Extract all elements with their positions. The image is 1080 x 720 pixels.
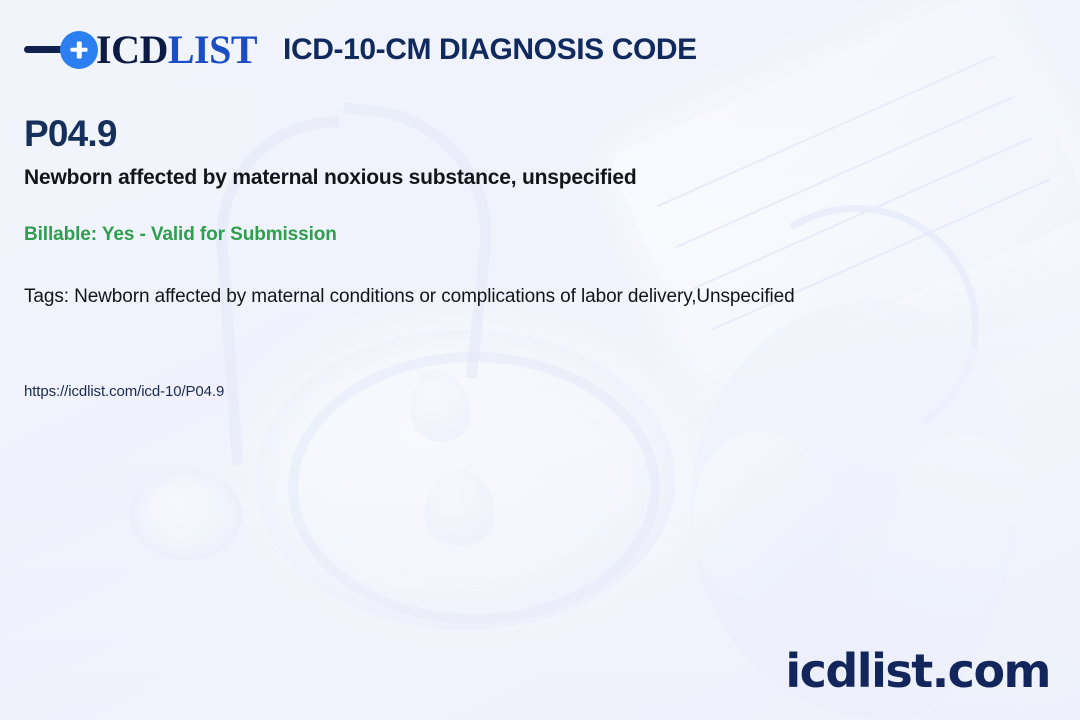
logo-word-icd: ICD [96, 27, 168, 72]
source-url[interactable]: https://icdlist.com/icd-10/P04.9 [24, 383, 224, 400]
brand-footer: icdlist.com [785, 644, 1050, 698]
tags-line: Tags: Newborn affected by maternal condi… [24, 286, 795, 308]
logo-word-list: LIST [168, 27, 257, 72]
plus-circle-icon [60, 31, 98, 69]
diagnosis-description: Newborn affected by maternal noxious sub… [24, 166, 637, 190]
icdlist-logo[interactable]: ICDLIST [24, 26, 257, 73]
icd-code-card: ICDLIST ICD-10-CM DIAGNOSIS CODE P04.9 N… [0, 0, 1080, 720]
logo-wordmark: ICDLIST [96, 26, 257, 73]
diagnosis-code: P04.9 [24, 113, 117, 155]
page-title: ICD-10-CM DIAGNOSIS CODE [283, 33, 697, 67]
page-header: ICDLIST ICD-10-CM DIAGNOSIS CODE [24, 26, 1056, 73]
billable-status: Billable: Yes - Valid for Submission [24, 224, 337, 246]
